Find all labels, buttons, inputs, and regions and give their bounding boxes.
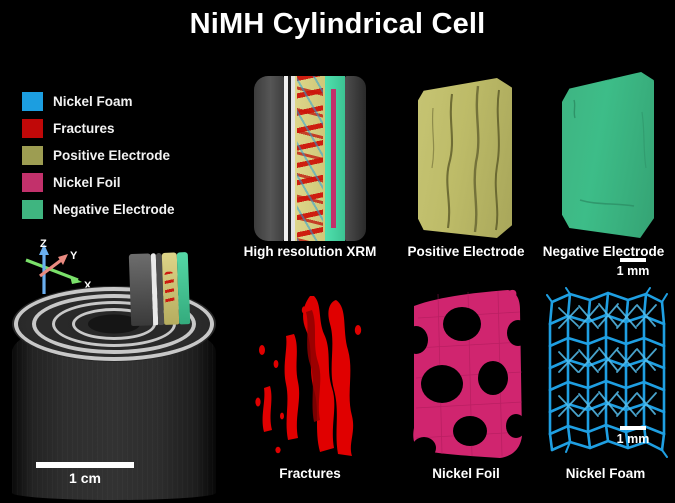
xrm-layer-nickel-foil (331, 89, 336, 228)
page-title: NiMH Cylindrical Cell (0, 8, 675, 41)
panel-caption-positive-electrode: Positive Electrode (392, 244, 540, 259)
legend-swatch-fractures (22, 119, 43, 138)
panel-nickel-foil: Nickel Foil (392, 284, 540, 484)
xrm-layer-nickel-foam-specks (297, 76, 323, 241)
nickel-foil-render (408, 288, 528, 460)
figure-root: NiMH Cylindrical Cell Nickel Foam Fractu… (0, 0, 675, 503)
legend-swatch-negative-electrode (22, 200, 43, 219)
positive-electrode-render (418, 78, 512, 238)
scalebar-overview: 1 cm (30, 462, 140, 486)
legend-swatch-positive-electrode (22, 146, 43, 165)
extracted-subvolume-inset (129, 252, 193, 326)
nickel-foil-geometry (408, 288, 528, 460)
scalebar-negative-electrode: 1 mm (598, 258, 668, 278)
panel-caption-fractures: Fractures (236, 466, 384, 481)
legend-item-fractures: Fractures (22, 117, 222, 140)
legend-swatch-nickel-foam (22, 92, 43, 111)
legend-item-nickel-foam: Nickel Foam (22, 90, 222, 113)
panel-caption-nickel-foam: Nickel Foam (536, 466, 675, 481)
panel-high-resolution-xrm: High resolution XRM (236, 66, 384, 256)
fractures-render (248, 290, 372, 460)
legend-label-nickel-foam: Nickel Foam (53, 94, 133, 109)
scalebar-label: 1 mm (598, 264, 668, 278)
legend: Nickel Foam Fractures Positive Electrode… (22, 90, 222, 225)
legend-item-positive-electrode: Positive Electrode (22, 144, 222, 167)
scalebar-nickel-foam: 1 mm (598, 426, 668, 446)
legend-item-nickel-foil: Nickel Foil (22, 171, 222, 194)
negative-electrode-surface-marks (562, 72, 654, 238)
negative-electrode-render (562, 72, 654, 238)
legend-label-nickel-foil: Nickel Foil (53, 175, 121, 190)
legend-item-negative-electrode: Negative Electrode (22, 198, 222, 221)
panel-negative-electrode: 1 mm Negative Electrode (540, 60, 675, 256)
xrm-layer-inner-casing (345, 76, 366, 241)
inset-layer-fractures (164, 271, 174, 304)
panel-nickel-foam: 1 mm Nickel Foam (536, 284, 675, 484)
panel-caption-nickel-foil: Nickel Foil (392, 466, 540, 481)
fractures-geometry (248, 290, 372, 460)
legend-label-positive-electrode: Positive Electrode (53, 148, 170, 163)
panel-caption-negative-electrode: Negative Electrode (536, 244, 671, 259)
legend-label-fractures: Fractures (53, 121, 115, 136)
panel-fractures: Fractures (236, 284, 384, 484)
scalebar-bar (36, 462, 134, 468)
scalebar-bar (620, 426, 646, 430)
xrm-render (254, 76, 366, 241)
axis-label-z: Z (40, 238, 47, 250)
positive-electrode-cracks (418, 78, 512, 238)
xrm-layer-outer-casing (254, 76, 284, 241)
axis-label-y: Y (70, 250, 77, 262)
inset-layer-outer-grey (129, 253, 153, 326)
panel-caption-high-resolution-xrm: High resolution XRM (236, 244, 384, 259)
panel-positive-electrode: Positive Electrode (392, 66, 540, 256)
legend-swatch-nickel-foil (22, 173, 43, 192)
scalebar-label: 1 cm (30, 470, 140, 486)
scalebar-label: 1 mm (598, 432, 668, 446)
legend-label-negative-electrode: Negative Electrode (53, 202, 175, 217)
inset-layer-negative-electrode (177, 252, 191, 324)
